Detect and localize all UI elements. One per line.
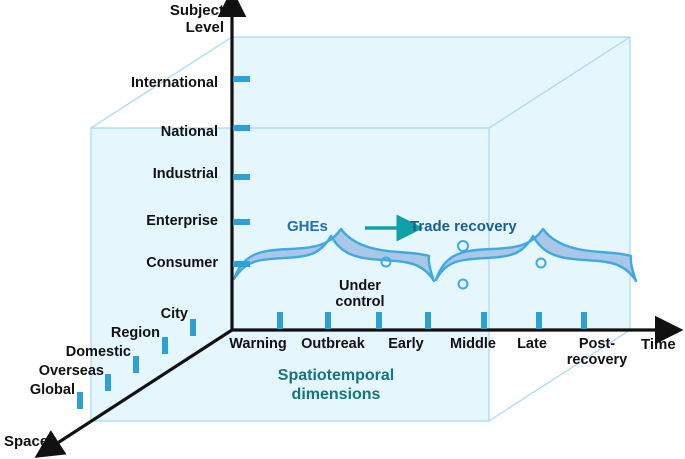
vertical-axis-title-line2: Level [186, 19, 224, 36]
time-tick-label-outbreak: Outbreak [296, 336, 370, 352]
figure-canvas: Subject Level International National Ind… [0, 0, 685, 459]
under-control-line2: control [335, 294, 384, 310]
spatiotemporal-dimensions-label: Spatiotemporal dimensions [261, 366, 411, 404]
time-tick-label-post-recovery: Post- recovery [558, 336, 636, 368]
vertical-tick-label-enterprise: Enterprise [108, 213, 218, 229]
depth-axis-title: Space [4, 433, 48, 450]
tick-enterprise [233, 219, 250, 225]
post-recovery-line2: recovery [567, 352, 627, 368]
tick-outbreak [325, 312, 331, 329]
vertical-tick-label-industrial: Industrial [108, 166, 218, 182]
vertical-axis-title-line1: Subject [170, 2, 224, 19]
tick-extra [581, 312, 587, 329]
ghes-label: GHEs [287, 218, 328, 235]
spatiotemporal-line2: dimensions [292, 386, 381, 403]
space-tick-label-region: Region [80, 325, 160, 341]
tick-late [481, 312, 487, 329]
time-tick-label-middle: Middle [443, 336, 503, 352]
tick-domestic [133, 356, 139, 373]
tick-international [233, 76, 250, 82]
space-tick-label-global: Global [0, 382, 75, 398]
tick-warning [277, 312, 283, 329]
space-tick-label-overseas: Overseas [4, 363, 104, 379]
horizontal-axis-title: Time [641, 336, 676, 353]
vertical-tick-label-international: International [108, 75, 218, 91]
tick-middle [425, 312, 431, 329]
space-tick-label-domestic: Domestic [31, 344, 131, 360]
time-tick-label-early: Early [380, 336, 432, 352]
vertical-tick-label-consumer: Consumer [108, 255, 218, 271]
tick-consumer [233, 261, 250, 267]
tick-post-recovery [536, 312, 542, 329]
tick-global [77, 392, 83, 409]
under-control-label: Under control [320, 278, 400, 310]
vertical-tick-label-national: National [108, 124, 218, 140]
time-tick-label-warning: Warning [225, 336, 291, 352]
trade-recovery-label: Trade recovery [410, 218, 517, 235]
vertical-axis-title: Subject Level [152, 2, 224, 36]
tick-early [376, 312, 382, 329]
under-control-line1: Under [339, 278, 381, 294]
tick-industrial [233, 174, 250, 180]
tick-region [162, 337, 168, 354]
spatiotemporal-line1: Spatiotemporal [278, 367, 394, 384]
post-recovery-line1: Post- [579, 336, 615, 352]
tick-city [190, 319, 196, 336]
space-tick-label-city: City [120, 306, 188, 322]
time-tick-label-late: Late [510, 336, 554, 352]
tick-overseas [105, 374, 111, 391]
tick-national [233, 125, 250, 131]
